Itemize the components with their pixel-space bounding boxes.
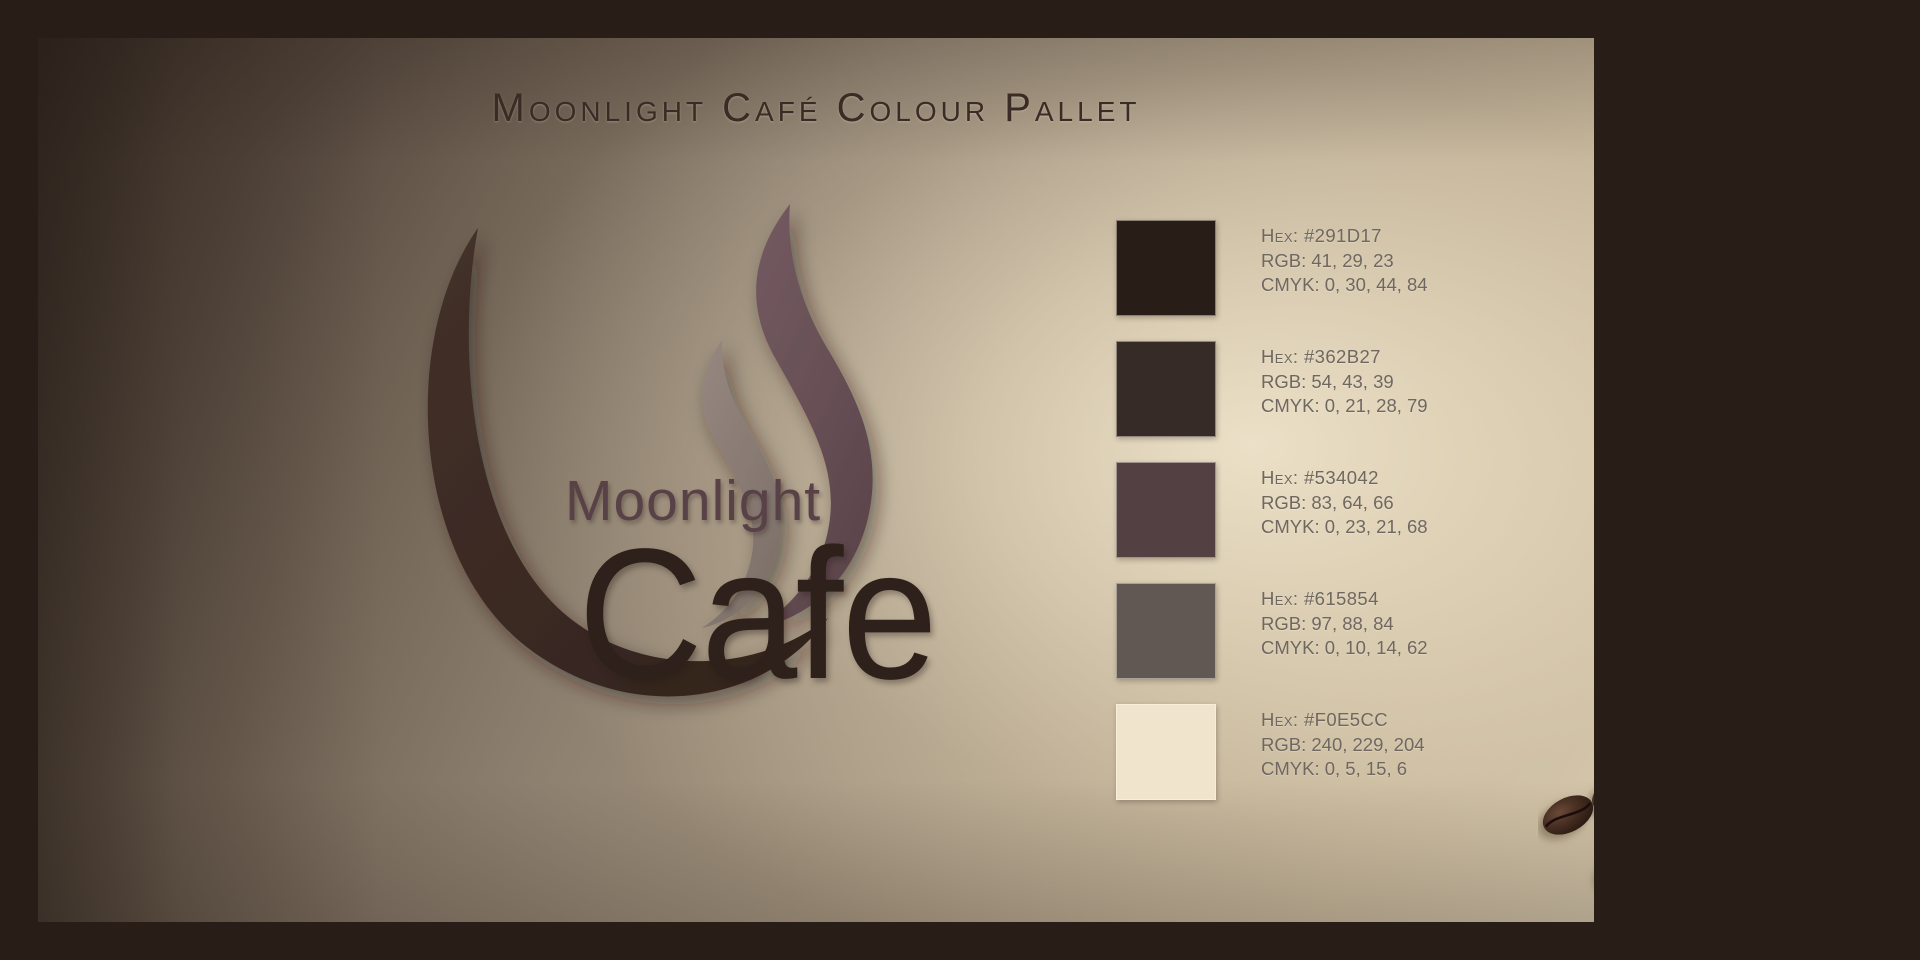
- swatch-rgb-line: RGB: 97, 88, 84: [1261, 612, 1428, 637]
- swatch-cmyk-line: CMYK: 0, 21, 28, 79: [1261, 394, 1428, 419]
- swatch-info: Hex: #362B27 RGB: 54, 43, 39 CMYK: 0, 21…: [1261, 345, 1428, 419]
- logo-brand-main: Cafe: [578, 508, 936, 721]
- swatch-hex-line: Hex: #F0E5CC: [1261, 708, 1425, 733]
- swatch-chip[interactable]: [1116, 462, 1216, 558]
- swatch-cmyk-line: CMYK: 0, 23, 21, 68: [1261, 515, 1428, 540]
- coffee-bean: [1538, 787, 1594, 842]
- poster-frame: Moonlight Café Colour Pallet: [0, 0, 1920, 960]
- swatch-chip[interactable]: [1116, 220, 1216, 316]
- swatch-cmyk-line: CMYK: 0, 5, 15, 6: [1261, 757, 1425, 782]
- swatch-chip[interactable]: [1116, 583, 1216, 679]
- poster-canvas: Moonlight Café Colour Pallet: [38, 38, 1594, 922]
- swatch-hex-line: Hex: #291D17: [1261, 224, 1428, 249]
- swatch-rgb-line: RGB: 240, 229, 204: [1261, 733, 1425, 758]
- swatch-hex-line: Hex: #362B27: [1261, 345, 1428, 370]
- swatch-info: Hex: #615854 RGB: 97, 88, 84 CMYK: 0, 10…: [1261, 587, 1428, 661]
- swatch-info: Hex: #534042 RGB: 83, 64, 66 CMYK: 0, 23…: [1261, 466, 1428, 540]
- swatch-chip[interactable]: [1116, 704, 1216, 800]
- swatch-info: Hex: #F0E5CC RGB: 240, 229, 204 CMYK: 0,…: [1261, 708, 1425, 782]
- swatch-rgb-line: RGB: 41, 29, 23: [1261, 249, 1428, 274]
- swatch-chip[interactable]: [1116, 341, 1216, 437]
- swatch-cmyk-line: CMYK: 0, 30, 44, 84: [1261, 273, 1428, 298]
- swatch-rgb-line: RGB: 83, 64, 66: [1261, 491, 1428, 516]
- swatch-info: Hex: #291D17 RGB: 41, 29, 23 CMYK: 0, 30…: [1261, 224, 1428, 298]
- page-title: Moonlight Café Colour Pallet: [38, 86, 1594, 131]
- swatch-cmyk-line: CMYK: 0, 10, 14, 62: [1261, 636, 1428, 661]
- swatch-hex-line: Hex: #615854: [1261, 587, 1428, 612]
- swatch-hex-line: Hex: #534042: [1261, 466, 1428, 491]
- swatch-rgb-line: RGB: 54, 43, 39: [1261, 370, 1428, 395]
- coffee-beans-icon: [1538, 773, 1594, 922]
